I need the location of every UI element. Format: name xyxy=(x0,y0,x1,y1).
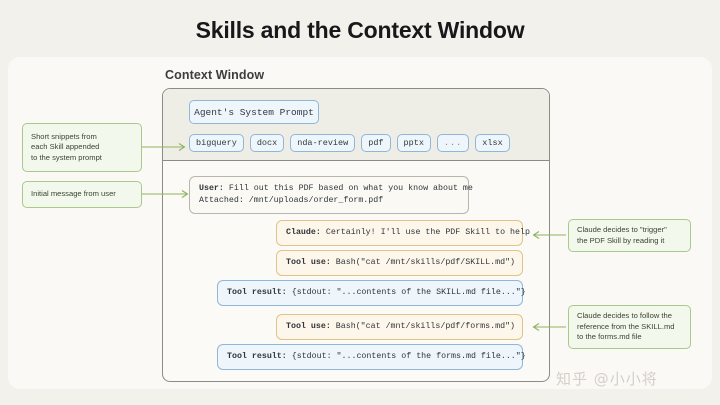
message-user-speaker: User: xyxy=(199,184,224,193)
message-tool-result-forms-md-speaker: Tool result: xyxy=(227,352,287,361)
annotation-trigger-pdf-skill: Claude decides to "trigger" the PDF Skil… xyxy=(568,219,691,252)
annotation-initial-user-message: Initial message from user xyxy=(22,181,142,208)
context-window-label: Context Window xyxy=(165,68,264,82)
skill-chip-pptx: pptx xyxy=(397,134,431,152)
message-assistant: Claude: Certainly! I'll use the PDF Skil… xyxy=(276,220,523,246)
message-tool-result-skill-md: Tool result: {stdout: "...contents of th… xyxy=(217,280,523,306)
message-tool-use-forms-md-text: Bash("cat /mnt/skills/pdf/forms.md") xyxy=(331,322,515,331)
message-tool-use-skill-md-text: Bash("cat /mnt/skills/pdf/SKILL.md") xyxy=(331,258,515,267)
page-title: Skills and the Context Window xyxy=(0,17,720,44)
watermark: 知乎 @小小将 xyxy=(556,368,658,389)
conversation-section: User: Fill out this PDF based on what yo… xyxy=(163,161,549,382)
skill-chip-nda-review: nda-review xyxy=(290,134,355,152)
message-user: User: Fill out this PDF based on what yo… xyxy=(189,176,469,214)
skill-chip-ellipsis: ... xyxy=(437,134,469,152)
message-tool-use-skill-md: Tool use: Bash("cat /mnt/skills/pdf/SKIL… xyxy=(276,250,523,276)
message-tool-result-skill-md-text: {stdout: "...contents of the SKILL.md fi… xyxy=(287,288,526,297)
skill-chip-bigquery: bigquery xyxy=(189,134,244,152)
skill-chip-row: bigquery docx nda-review pdf pptx ... xl… xyxy=(189,134,510,152)
message-tool-result-forms-md-text: {stdout: "...contents of the forms.md fi… xyxy=(287,352,526,361)
message-assistant-speaker: Claude: xyxy=(286,228,321,237)
skill-chip-pdf: pdf xyxy=(361,134,390,152)
message-tool-result-forms-md: Tool result: {stdout: "...contents of th… xyxy=(217,344,523,370)
message-tool-use-forms-md: Tool use: Bash("cat /mnt/skills/pdf/form… xyxy=(276,314,523,340)
context-window-panel: Agent's System Prompt bigquery docx nda-… xyxy=(162,88,550,382)
message-tool-use-skill-md-speaker: Tool use: xyxy=(286,258,331,267)
agent-system-prompt-box: Agent's System Prompt xyxy=(189,100,319,124)
annotation-follow-reference: Claude decides to follow the reference f… xyxy=(568,305,691,349)
message-tool-result-skill-md-speaker: Tool result: xyxy=(227,288,287,297)
message-assistant-text: Certainly! I'll use the PDF Skill to hel… xyxy=(321,228,530,237)
skill-chip-xlsx: xlsx xyxy=(475,134,509,152)
system-prompt-section: Agent's System Prompt bigquery docx nda-… xyxy=(163,89,549,161)
message-tool-use-forms-md-speaker: Tool use: xyxy=(286,322,331,331)
message-user-text: Fill out this PDF based on what you know… xyxy=(199,184,473,205)
annotation-skill-snippets: Short snippets from each Skill appended … xyxy=(22,123,142,172)
skill-chip-docx: docx xyxy=(250,134,284,152)
diagram-canvas: Skills and the Context Window Context Wi… xyxy=(0,0,720,405)
